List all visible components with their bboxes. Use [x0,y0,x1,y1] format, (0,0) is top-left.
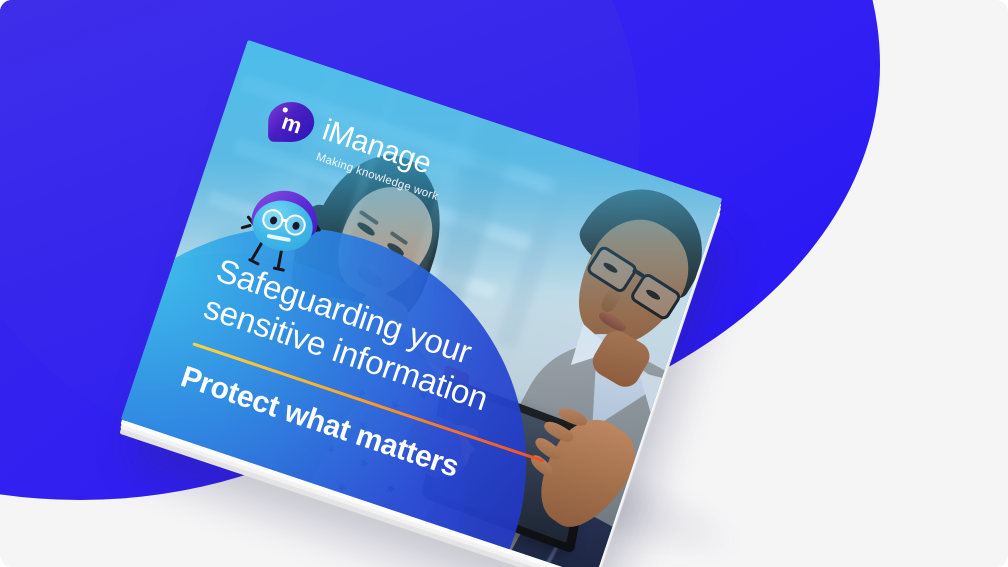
mascot-arm [241,224,252,230]
hero-canvas: m iManage Making knowledge work [0,0,1008,567]
